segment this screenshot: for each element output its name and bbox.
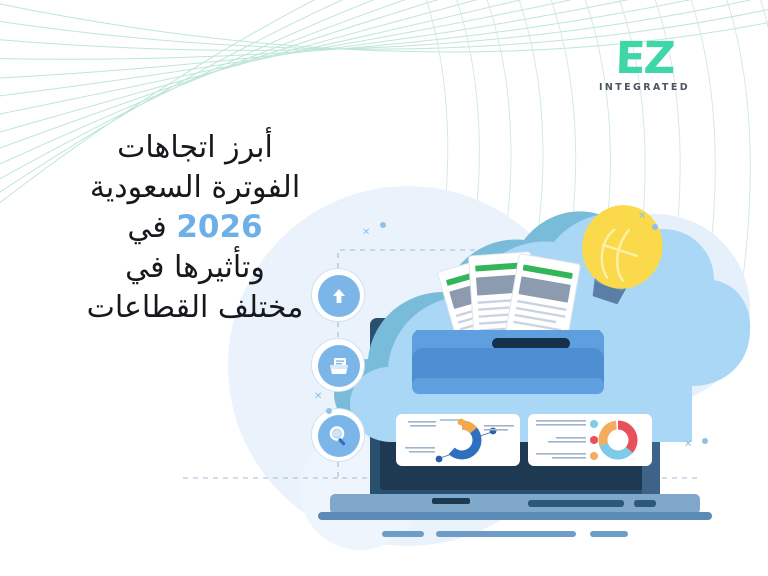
laptop-key-strip bbox=[528, 500, 624, 507]
hero-illustration bbox=[0, 0, 768, 576]
sparkle-dot-1 bbox=[380, 222, 386, 228]
poster-canvas: EZ INTEGRATED أبرز اتجاهات الفوترة السعو… bbox=[0, 0, 768, 576]
envelope-slot bbox=[492, 338, 570, 349]
floor-shadow-dashes bbox=[382, 531, 628, 537]
sparkle-2: ✕ bbox=[314, 392, 322, 402]
sparkle-dot-3 bbox=[652, 224, 658, 230]
search-step-inner bbox=[318, 415, 360, 457]
upload-arrow-icon bbox=[328, 285, 350, 307]
legend-dot-2 bbox=[590, 436, 598, 444]
upload-step-inner bbox=[318, 275, 360, 317]
file-step[interactable] bbox=[311, 338, 365, 392]
dashboard-card-left bbox=[396, 414, 520, 466]
sparkle-4: ✕ bbox=[684, 440, 692, 450]
sparkle-dot-4 bbox=[702, 438, 708, 444]
search-step[interactable] bbox=[311, 408, 365, 462]
sparkle-3: ✕ bbox=[638, 212, 646, 222]
annot-dot-3 bbox=[436, 456, 443, 463]
sparkle-1: ✕ bbox=[362, 228, 370, 238]
legend-dot-1 bbox=[590, 420, 598, 428]
sparkle-dot-2 bbox=[326, 408, 332, 414]
envelope-lip bbox=[412, 378, 604, 394]
laptop-trackpad bbox=[432, 498, 470, 504]
laptop-key-small bbox=[634, 500, 656, 507]
laptop-base-front bbox=[318, 512, 712, 520]
dashboard-card-right bbox=[528, 414, 652, 466]
folder-file-icon bbox=[327, 355, 351, 377]
legend-dot-3 bbox=[590, 452, 598, 460]
annot-dot-2 bbox=[490, 428, 497, 435]
magnifier-icon bbox=[327, 424, 351, 448]
envelope-inbox bbox=[412, 330, 604, 394]
upload-step[interactable] bbox=[311, 268, 365, 322]
file-step-inner bbox=[318, 345, 360, 387]
annot-dot-1 bbox=[458, 419, 465, 426]
